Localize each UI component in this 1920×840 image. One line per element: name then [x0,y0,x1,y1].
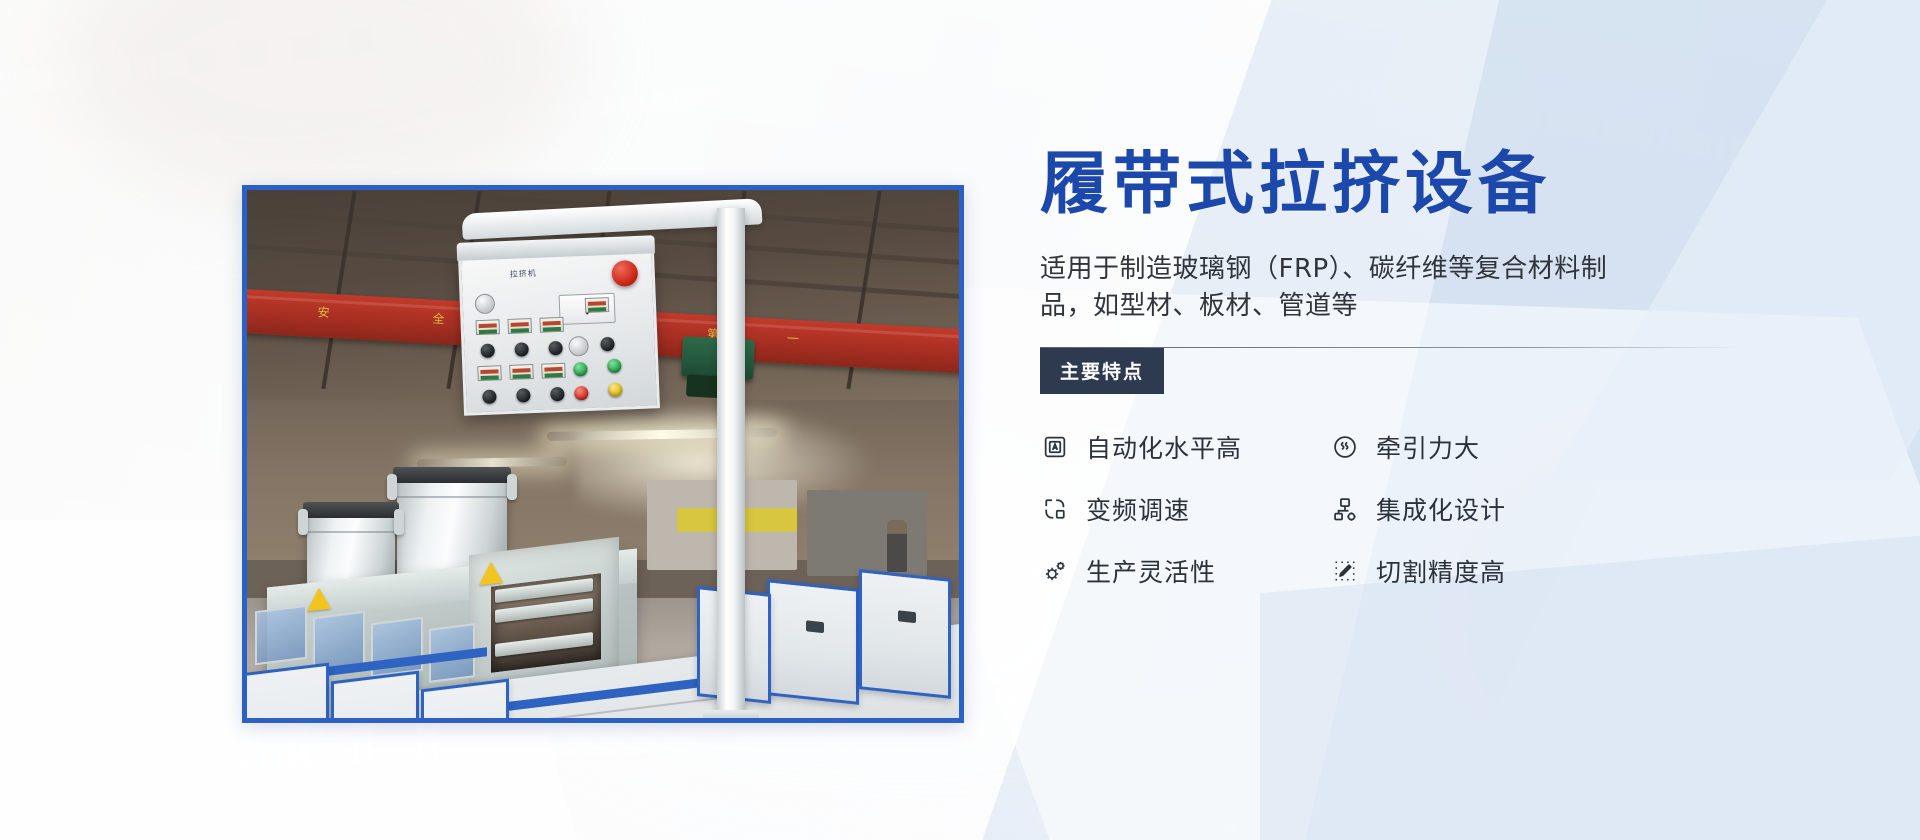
control-knob [548,341,563,356]
feature-label: 集成化设计 [1376,491,1506,527]
emergency-stop-button [611,260,638,287]
machine-cabinet [767,579,859,705]
page-title: 履带式拉挤设备 [1040,150,1740,221]
selector-dial [474,293,495,314]
warning-triangle-icon [479,561,503,586]
control-knob [514,342,529,357]
machine-cabinet [247,663,329,718]
control-knob [516,388,531,403]
status-badge: 主要特点 [1040,348,1164,394]
product-photo-frame: 安 全 生 产 第 一 [242,185,964,723]
indicator-light-yellow [608,383,623,398]
digital-display [509,364,534,380]
product-description: 适用于制造玻璃钢（FRP）、碳纤维等复合材料制品，如型材、板材、管道等 [1040,251,1640,325]
hero-content: 履带式拉挤设备 适用于制造玻璃钢（FRP）、碳纤维等复合材料制品，如型材、板材、… [1040,150,1740,589]
features-header: 主要特点 [1040,347,1740,387]
gantry-base [703,710,759,718]
digital-display [539,317,564,333]
control-panel-logo: 拉挤机 [510,268,537,280]
machine-cabinet [859,569,951,699]
feature-item-automation: 自动化水平高 [1040,429,1330,465]
gears-flexibility-icon [1040,556,1070,586]
feature-item-cut-precision: 切割精度高 [1330,553,1620,589]
control-knob [550,387,565,402]
feature-item-integrated-design: 集成化设计 [1330,491,1620,527]
digital-display [541,363,566,379]
feature-item-frequency: 变频调速 [1040,491,1330,527]
beam-text-char: 全 [432,310,446,328]
product-hero-banner: 安 全 生 产 第 一 [0,0,1920,840]
integrated-design-nodes-icon [1330,494,1360,524]
beam-text-char: 安 [317,303,331,321]
gantry-post [717,208,745,718]
feature-label: 自动化水平高 [1086,429,1242,465]
control-knob [482,389,497,404]
digital-display [477,365,502,381]
control-knob [600,337,615,352]
beam-text-char: 一 [786,330,800,348]
worker-figure [887,520,907,572]
warning-triangle-icon [307,587,331,612]
feature-item-traction: 牵引力大 [1330,429,1620,465]
control-knob [480,343,495,358]
feature-label: 切割精度高 [1376,553,1506,589]
digital-display [475,319,500,335]
feature-item-flexibility: 生产灵活性 [1040,553,1330,589]
feature-label: 生产灵活性 [1086,553,1216,589]
feature-label: 变频调速 [1086,491,1190,527]
machine-control-panel: 拉挤机 [458,248,660,415]
indicator-light-green [607,359,622,374]
cut-precision-pen-icon [1330,556,1360,586]
digital-display [507,318,532,334]
automation-square-a-icon [1040,432,1070,462]
indicator-light-red [574,386,589,401]
frequency-convert-icon [1040,494,1070,524]
product-photo: 安 全 生 产 第 一 [247,190,959,718]
indicator-light-green [573,362,588,377]
feature-label: 牵引力大 [1376,429,1480,465]
traction-waves-circle-icon [1330,432,1360,462]
digital-display [585,297,610,313]
feature-list: 自动化水平高 牵引力大 [1040,429,1740,589]
background-machine [807,490,927,576]
pressure-dial [568,336,589,357]
